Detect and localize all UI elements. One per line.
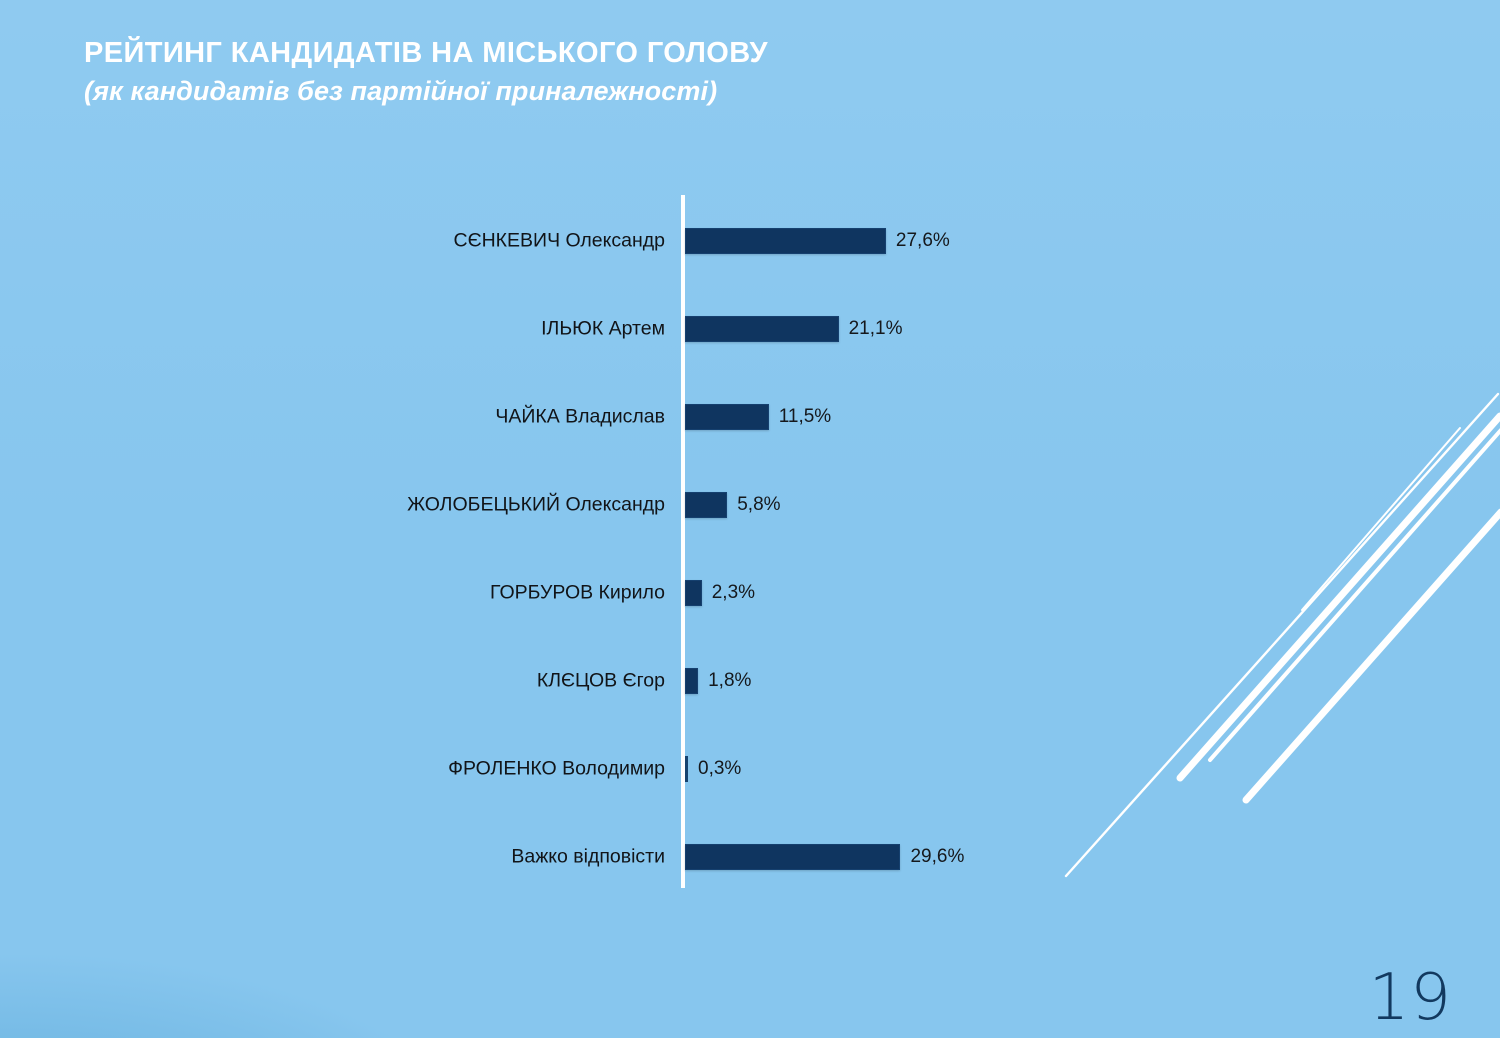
chart-row: ФРОЛЕНКО Володимир0,3% (0, 756, 1100, 782)
bar-value-label: 11,5% (779, 406, 831, 428)
bar-category-label: ЖОЛОБЕЦЬКИЙ Олександр (0, 494, 665, 515)
chart-row: Важко відповісти29,6% (0, 844, 1100, 870)
bar-category-label: Важко відповісти (0, 846, 665, 867)
chart-row: ЖОЛОБЕЦЬКИЙ Олександр5,8% (0, 492, 1100, 518)
chart-row: КЛЄЦОВ Єгор1,8% (0, 668, 1100, 694)
chart-row: СЄНКЕВИЧ Олександр27,6% (0, 228, 1100, 254)
page-number: 19 (1369, 966, 1452, 1030)
bar-value-label: 2,3% (712, 582, 755, 604)
decorative-streaks (1060, 380, 1500, 980)
bar (685, 404, 769, 430)
bar (685, 756, 688, 782)
bar-category-label: ІЛЬЮК Артем (0, 318, 665, 339)
title-block: РЕЙТИНГ КАНДИДАТІВ НА МІСЬКОГО ГОЛОВУ (я… (84, 36, 1084, 108)
bar (685, 844, 900, 870)
bar-category-label: ГОРБУРОВ Кирило (0, 582, 665, 603)
chart-axis-line (681, 195, 685, 888)
chart-row: ЧАЙКА Владислав11,5% (0, 404, 1100, 430)
bar-category-label: КЛЄЦОВ Єгор (0, 670, 665, 691)
bar-category-label: СЄНКЕВИЧ Олександр (0, 230, 665, 251)
bar-value-label: 0,3% (698, 758, 741, 780)
bar (685, 316, 839, 342)
page-subtitle: (як кандидатів без партійної приналежнос… (84, 75, 1084, 107)
bar-category-label: ЧАЙКА Владислав (0, 406, 665, 427)
page-title: РЕЙТИНГ КАНДИДАТІВ НА МІСЬКОГО ГОЛОВУ (84, 36, 1084, 70)
bar-value-label: 1,8% (708, 670, 751, 692)
slide-canvas: РЕЙТИНГ КАНДИДАТІВ НА МІСЬКОГО ГОЛОВУ (я… (0, 0, 1500, 1038)
bar-chart: СЄНКЕВИЧ Олександр27,6%ІЛЬЮК Артем21,1%Ч… (0, 195, 1100, 895)
bar (685, 228, 886, 254)
bar-value-label: 21,1% (849, 318, 903, 340)
bar-value-label: 29,6% (910, 846, 964, 868)
bar-category-label: ФРОЛЕНКО Володимир (0, 758, 665, 779)
chart-row: ІЛЬЮК Артем21,1% (0, 316, 1100, 342)
chart-row: ГОРБУРОВ Кирило2,3% (0, 580, 1100, 606)
bar (685, 580, 702, 606)
bar (685, 668, 698, 694)
bar (685, 492, 727, 518)
bar-value-label: 5,8% (737, 494, 780, 516)
bar-value-label: 27,6% (896, 230, 950, 252)
